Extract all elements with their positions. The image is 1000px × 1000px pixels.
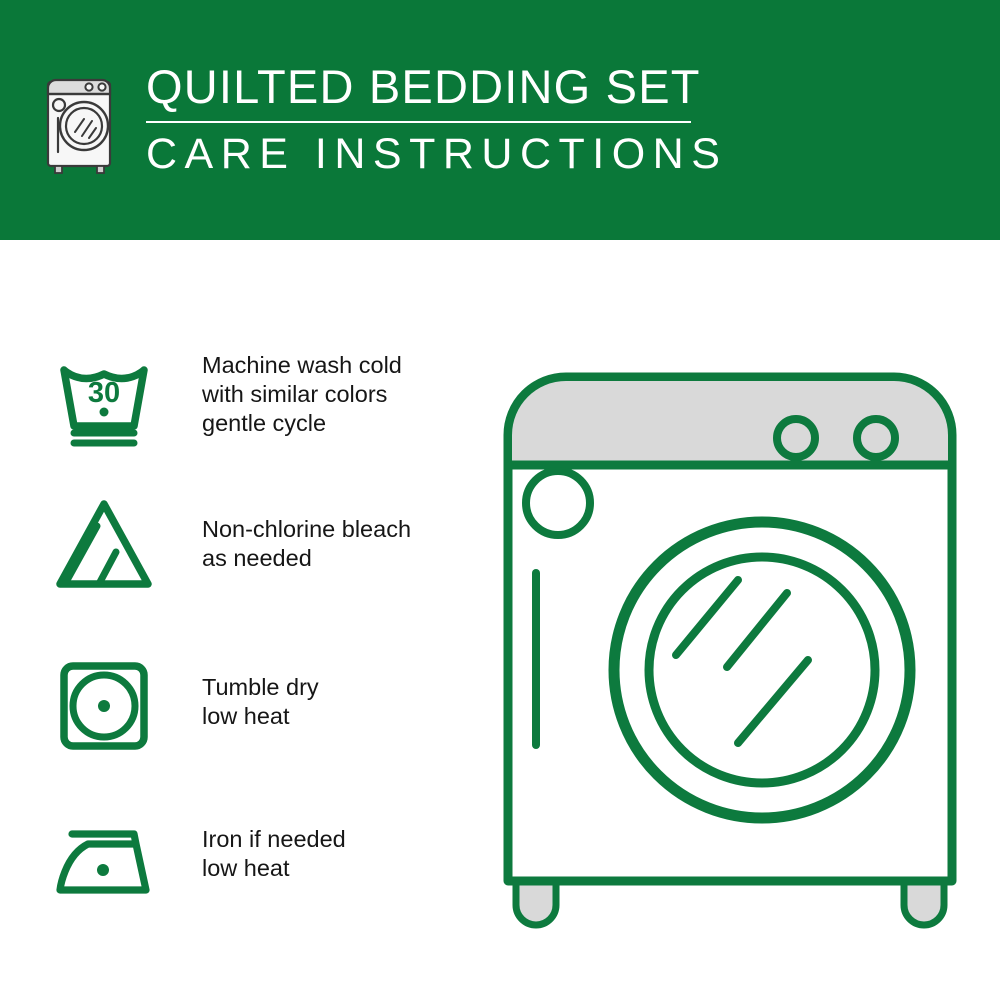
header-banner: QUILTED BEDDING SET CARE INSTRUCTIONS: [0, 0, 1000, 240]
header-content: QUILTED BEDDING SET CARE INSTRUCTIONS: [42, 62, 727, 177]
iron-low-heat-icon: [50, 800, 158, 908]
care-item-bleach: Non-chlorine bleach as needed: [50, 490, 470, 598]
washing-machine-icon: [42, 64, 124, 174]
care-item-bleach-label: Non-chlorine bleach as needed: [202, 515, 411, 573]
wash-temperature-value: 30: [88, 377, 120, 409]
machine-wash-tub-icon: 30: [50, 340, 158, 448]
header-title-block: QUILTED BEDDING SET CARE INSTRUCTIONS: [146, 62, 727, 177]
header-divider: [146, 121, 691, 123]
care-item-dry: Tumble dry low heat: [50, 648, 470, 756]
care-item-wash-label: Machine wash cold with similar colors ge…: [202, 351, 402, 438]
page-subtitle: CARE INSTRUCTIONS: [146, 131, 727, 177]
front-load-washing-machine-illustration: [490, 325, 980, 935]
care-instructions-list: 30 Machine wash cold with similar colors…: [0, 240, 470, 1000]
care-item-dry-label: Tumble dry low heat: [202, 673, 319, 731]
page-title: QUILTED BEDDING SET: [146, 62, 727, 112]
care-item-wash: 30 Machine wash cold with similar colors…: [50, 340, 470, 448]
tumble-dry-low-heat-icon: [50, 648, 158, 756]
care-item-iron-label: Iron if needed low heat: [202, 825, 346, 883]
non-chlorine-bleach-triangle-icon: [50, 490, 158, 598]
care-item-iron: Iron if needed low heat: [50, 800, 470, 908]
knob-left: [777, 419, 815, 457]
knob-right: [857, 419, 895, 457]
